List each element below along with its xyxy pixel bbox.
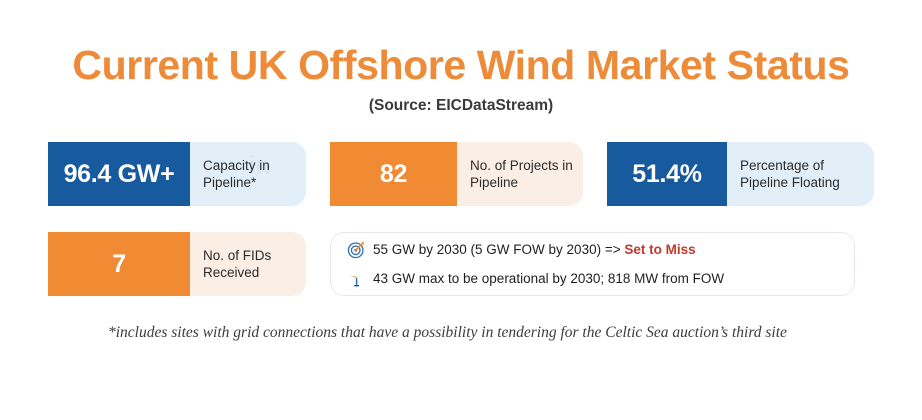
- stat-card-capacity-in-pipeline: 96.4 GW+ Capacity in Pipeline*: [48, 142, 306, 206]
- wind-turbine-icon: [347, 268, 373, 290]
- targets-notes-panel: 55 GW by 2030 (5 GW FOW by 2030) => Set …: [330, 232, 855, 296]
- footnote: *includes sites with grid connections th…: [108, 322, 880, 344]
- stat-card-percentage-of-pipeline-floating: 51.4% Percentage of Pipeline Floating: [607, 142, 874, 206]
- note-text-target: 55 GW by 2030 (5 GW FOW by 2030) => Set …: [373, 242, 696, 258]
- note-row-operational: 43 GW max to be operational by 2030; 818…: [347, 268, 840, 290]
- stat-label-projects: No. of Projects in Pipeline: [457, 142, 583, 206]
- stat-value-capacity: 96.4 GW+: [48, 142, 190, 206]
- note-row-target: 55 GW by 2030 (5 GW FOW by 2030) => Set …: [347, 239, 840, 261]
- stat-label-capacity: Capacity in Pipeline*: [190, 142, 306, 206]
- dart-target-icon: [347, 239, 373, 261]
- stat-label-fids: No. of FIDs Received: [190, 232, 306, 296]
- stat-label-floating: Percentage of Pipeline Floating: [727, 142, 874, 206]
- stat-card-no-of-projects-in-pipeline: 82 No. of Projects in Pipeline: [330, 142, 583, 206]
- note-target-main: 55 GW by 2030 (5 GW FOW by 2030) =>: [373, 242, 624, 257]
- stat-value-fids: 7: [48, 232, 190, 296]
- stat-value-projects: 82: [330, 142, 457, 206]
- note-target-status-badge: Set to Miss: [624, 242, 695, 257]
- stat-value-floating: 51.4%: [607, 142, 727, 206]
- stat-card-no-of-fids-received: 7 No. of FIDs Received: [48, 232, 306, 296]
- page-title: Current UK Offshore Wind Market Status: [0, 42, 922, 89]
- source-subtitle: (Source: EICDataStream): [0, 97, 922, 115]
- note-text-operational: 43 GW max to be operational by 2030; 818…: [373, 271, 724, 287]
